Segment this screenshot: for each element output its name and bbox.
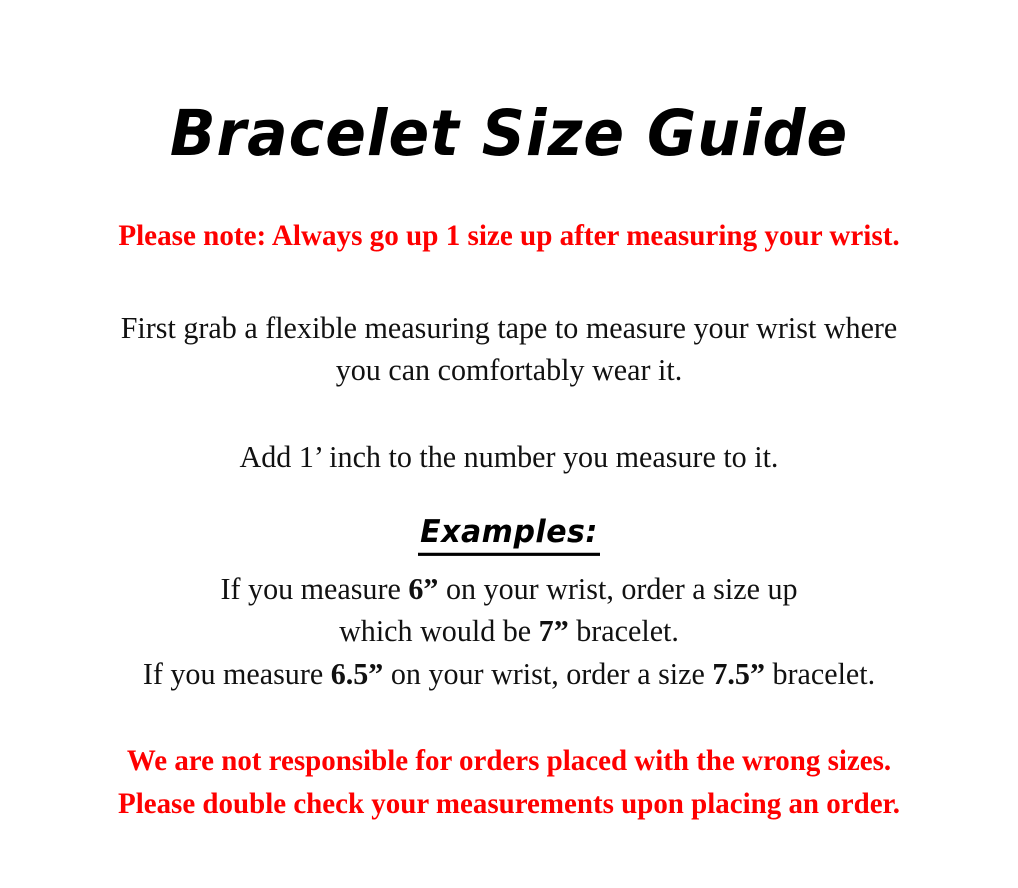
disclaimer-line-2: Please double check your measurements up…	[18, 783, 1000, 826]
examples-heading: Examples:	[0, 516, 1018, 554]
example-2-after: bracelet.	[765, 656, 875, 691]
size-guide-page: Bracelet Size Guide Please note: Always …	[0, 0, 1018, 888]
please-note-warning: Please note: Always go up 1 size up afte…	[15, 219, 1002, 254]
example-2-order-size: 7.5”	[712, 656, 765, 691]
intro-line-2: you can comfortably wear it.	[15, 349, 1002, 391]
example-2-measured-size: 6.5”	[331, 656, 384, 691]
example-2-before: If you measure	[143, 656, 331, 691]
page-title: Bracelet Size Guide	[0, 102, 1018, 166]
intro-paragraph: First grab a flexible measuring tape to …	[15, 307, 1002, 392]
examples-body: If you measure 6” on your wrist, order a…	[15, 568, 1002, 695]
example-1-line-1-before: If you measure	[220, 571, 408, 606]
example-1-order-size: 7”	[539, 613, 569, 648]
intro-line-1: First grab a flexible measuring tape to …	[15, 307, 1002, 349]
example-1-line-2: which would be 7” bracelet.	[15, 610, 1002, 652]
example-1-line-1: If you measure 6” on your wrist, order a…	[15, 568, 1002, 610]
disclaimer-line-1: We are not responsible for orders placed…	[18, 740, 1000, 783]
disclaimer-warning: We are not responsible for orders placed…	[18, 740, 1000, 825]
example-1-measured-size: 6”	[408, 571, 438, 606]
example-1-line-2-before: which would be	[339, 613, 539, 648]
examples-heading-label: Examples:	[418, 516, 600, 555]
example-1-line-1-after: on your wrist, order a size up	[438, 571, 797, 606]
example-1-line-2-after: bracelet.	[569, 613, 679, 648]
add-inch-line: Add 1’ inch to the number you measure to…	[15, 436, 1002, 478]
example-2-line: If you measure 6.5” on your wrist, order…	[15, 653, 1002, 695]
example-2-middle: on your wrist, order a size	[383, 656, 712, 691]
add-inch-instruction: Add 1’ inch to the number you measure to…	[15, 436, 1002, 478]
